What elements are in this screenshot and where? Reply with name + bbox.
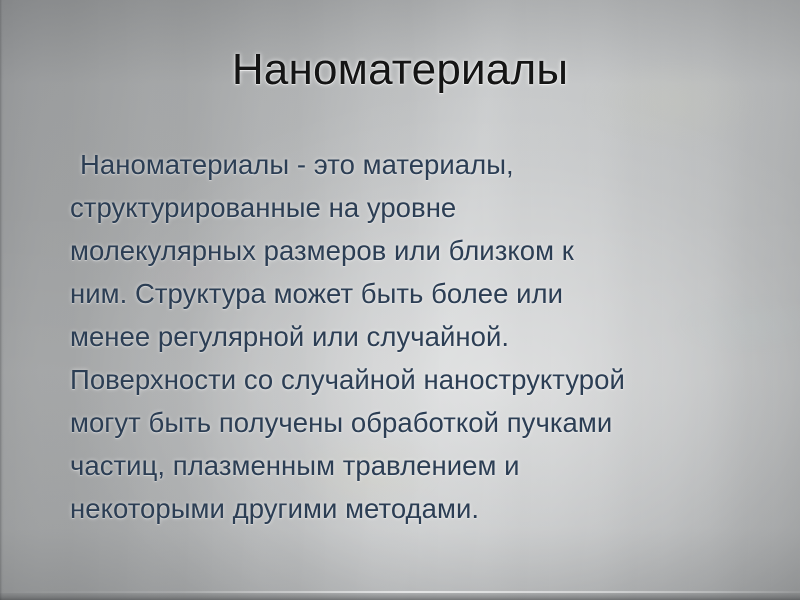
- slide-bottom-edge: [0, 593, 800, 600]
- body-line: некоторыми другими методами.: [70, 487, 770, 530]
- body-line: Поверхности со случайной наноструктурой: [70, 358, 770, 401]
- body-line: Наноматериалы - это материалы,: [70, 143, 770, 186]
- body-line: молекулярных размеров или близком к: [70, 229, 770, 272]
- slide-title: Наноматериалы: [0, 42, 800, 98]
- slide-body-text: Наноматериалы - это материалы, структури…: [70, 143, 770, 530]
- body-line: ним. Структура может быть более или: [70, 272, 770, 315]
- body-line: менее регулярной или случайной.: [70, 315, 770, 358]
- body-line: частиц, плазменным травлением и: [70, 444, 770, 487]
- presentation-slide: Наноматериалы Наноматериалы - это матери…: [0, 0, 800, 600]
- body-line: могут быть получены обработкой пучками: [70, 401, 770, 444]
- body-line: структурированные на уровне: [70, 186, 770, 229]
